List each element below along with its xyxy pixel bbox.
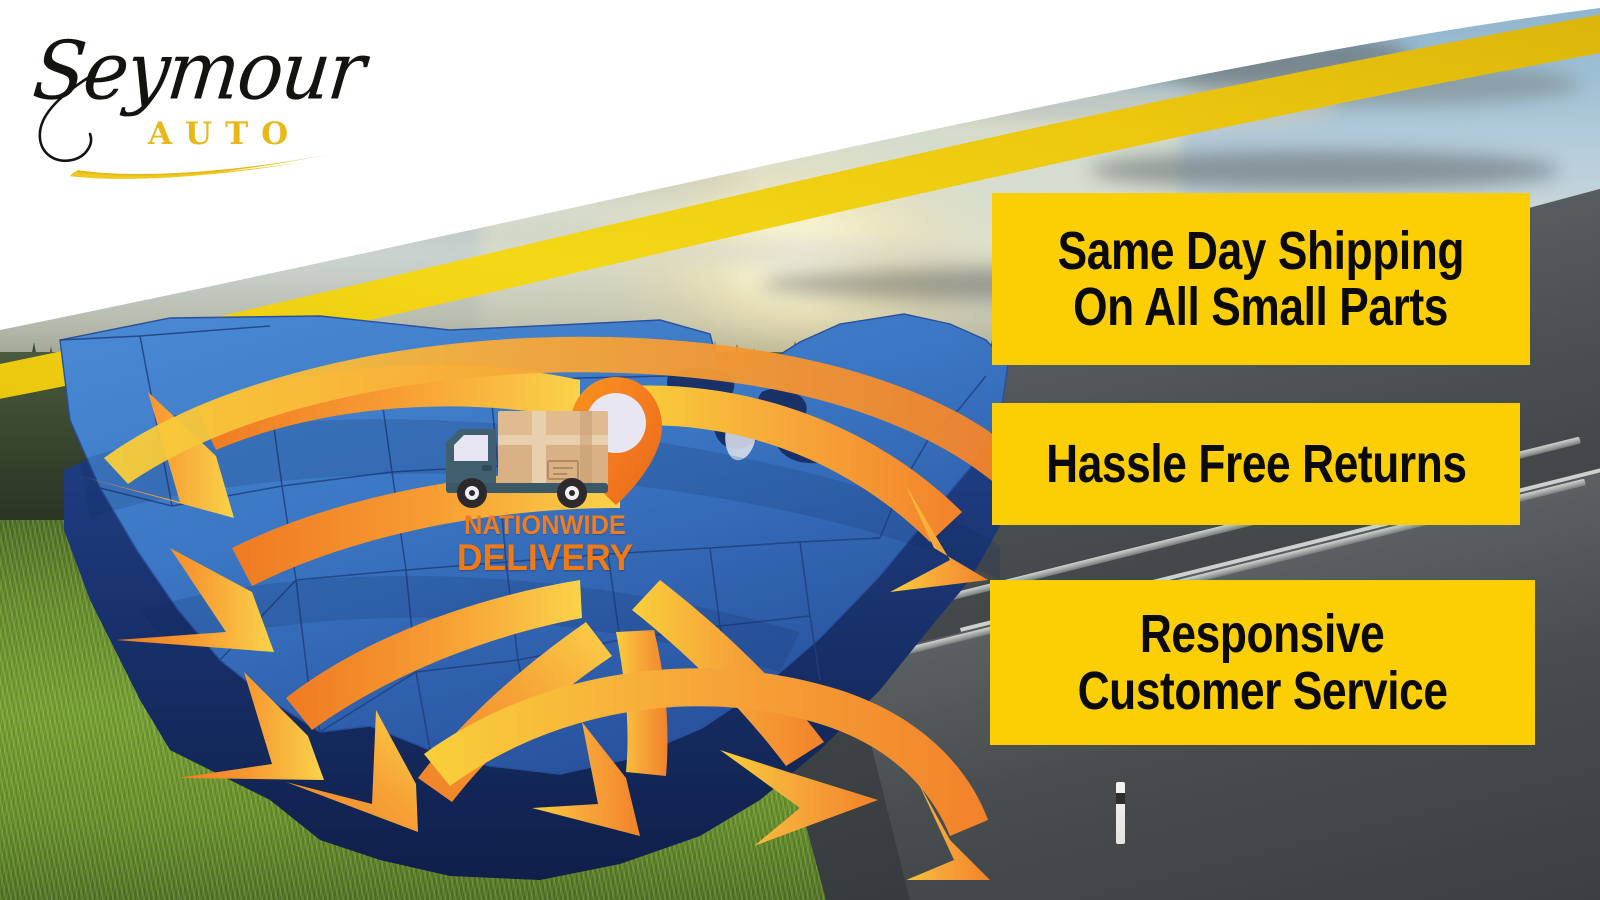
callout-line: Hassle Free Returns xyxy=(1046,436,1466,492)
promo-banner: Seymour AUTO xyxy=(0,0,1600,900)
callout-panel-customer-service[interactable]: Responsive Customer Service xyxy=(990,580,1535,745)
callout-line: Same Day Shipping xyxy=(1058,223,1464,279)
callout-panel-hassle-free-returns[interactable]: Hassle Free Returns xyxy=(992,403,1520,525)
badge-line-delivery: DELIVERY xyxy=(435,537,656,579)
roadside-marker-post xyxy=(1116,782,1125,844)
logo-script-tail xyxy=(32,72,152,170)
delivery-truck-icon xyxy=(446,411,608,508)
cloud xyxy=(1090,150,1560,190)
callout-line: On All Small Parts xyxy=(1074,279,1449,335)
callout-panel-same-day-shipping[interactable]: Same Day Shipping On All Small Parts xyxy=(992,193,1530,365)
cloud xyxy=(640,238,970,268)
nationwide-delivery-badge: NATIONWIDE DELIVERY xyxy=(420,365,670,590)
callout-line: Customer Service xyxy=(1078,663,1448,719)
brand-logo[interactable]: Seymour AUTO xyxy=(30,20,340,170)
callout-line: Responsive xyxy=(1140,606,1384,662)
logo-subtitle: AUTO xyxy=(148,116,301,152)
